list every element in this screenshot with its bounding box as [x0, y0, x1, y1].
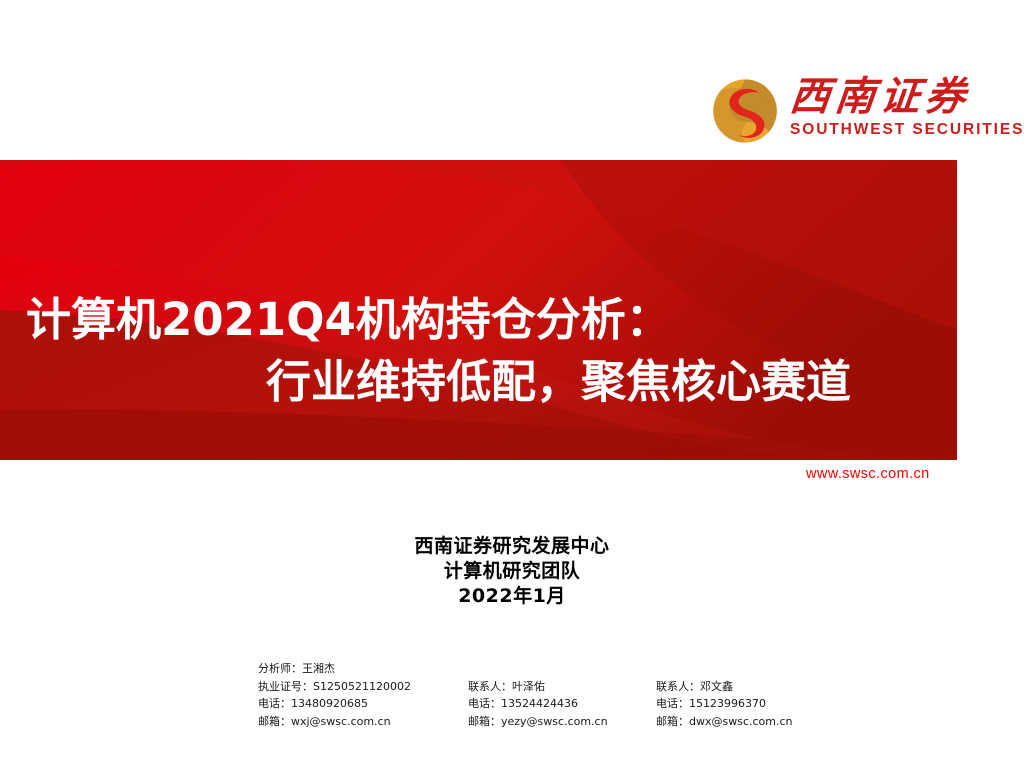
associate-1-phone: 电话：13524424436	[468, 695, 656, 713]
title-banner: 计算机2021Q4机构持仓分析： 行业维持低配，聚焦核心赛道	[0, 160, 957, 460]
analyst-phone: 电话：13480920685	[258, 695, 468, 713]
company-logo: 西南证券 SOUTHWEST SECURITIES	[712, 74, 1024, 144]
research-team-name: 计算机研究团队	[0, 559, 1024, 584]
analyst-email[interactable]: 邮箱：wxj@swsc.com.cn	[258, 713, 468, 731]
analyst-name: 分析师：王湘杰	[258, 660, 468, 678]
contact-column-analyst: 分析师：王湘杰 执业证号：S1250521120002 电话：134809206…	[258, 660, 468, 730]
southwest-securities-emblem-icon	[712, 78, 778, 144]
associate-2-name: 联系人：邓文鑫	[656, 678, 856, 696]
research-center-name: 西南证券研究发展中心	[0, 534, 1024, 559]
associate-2-phone: 电话：15123996370	[656, 695, 856, 713]
logo-english-name: SOUTHWEST SECURITIES	[790, 121, 1024, 139]
report-date: 2022年1月	[0, 584, 1024, 609]
analyst-license: 执业证号：S1250521120002	[258, 678, 468, 696]
contact-column-associate-2: 联系人：邓文鑫 电话：15123996370 邮箱：dwx@swsc.com.c…	[656, 660, 856, 730]
associate-2-email[interactable]: 邮箱：dwx@swsc.com.cn	[656, 713, 856, 731]
report-cover-slide: 西南证券 SOUTHWEST SECURITIES	[0, 0, 1024, 768]
contact-column-associate-1: 联系人：叶泽佑 电话：13524424436 邮箱：yezy@swsc.com.…	[468, 660, 656, 730]
associate-1-email[interactable]: 邮箱：yezy@swsc.com.cn	[468, 713, 656, 731]
banner-background-graphic	[0, 160, 957, 460]
website-url[interactable]: www.swsc.com.cn	[806, 466, 930, 482]
logo-wordmark: 西南证券 SOUTHWEST SECURITIES	[790, 74, 1024, 139]
contacts-block: 分析师：王湘杰 执业证号：S1250521120002 电话：134809206…	[258, 660, 958, 730]
associate-1-name: 联系人：叶泽佑	[468, 678, 656, 696]
logo-chinese-name: 西南证券	[788, 74, 973, 120]
organization-block: 西南证券研究发展中心 计算机研究团队 2022年1月	[0, 534, 1024, 609]
